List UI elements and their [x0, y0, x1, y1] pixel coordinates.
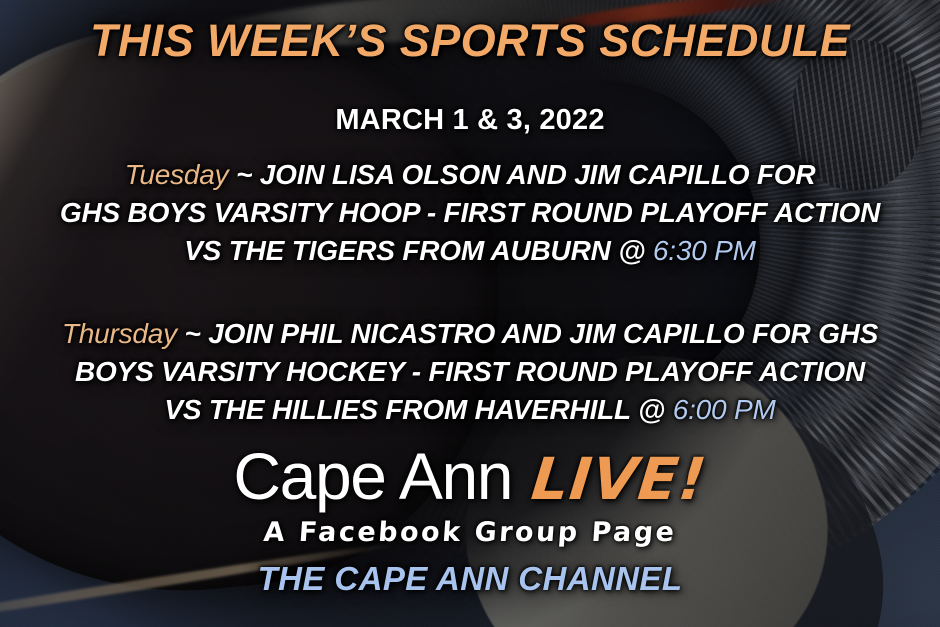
schedule-entry-thursday-line-1: Thursday ~ JOIN PHIL NICASTRO AND JIM CA…	[0, 315, 940, 353]
schedule-entry-thursday-line-1-text: JOIN PHIL NICASTRO AND JIM CAPILLO FOR G…	[208, 318, 878, 349]
schedule-entry-tuesday-line-2: GHS BOYS VARSITY HOOP - FIRST ROUND PLAY…	[0, 194, 940, 232]
schedule-entry-thursday-line-3: VS THE HILLIES FROM HAVERHILL @ 6:00 PM	[0, 391, 940, 429]
schedule-separator: ~	[177, 318, 208, 349]
brand-channel-name: THE CAPE ANN CHANNEL	[0, 562, 940, 595]
schedule-entry-tuesday-line-1: Tuesday ~ JOIN LISA OLSON AND JIM CAPILL…	[0, 156, 940, 194]
date-subtitle: MARCH 1 & 3, 2022	[0, 106, 940, 135]
schedule-entry-thursday-line-3-text: VS THE HILLIES FROM HAVERHILL @	[164, 394, 672, 425]
schedule-entry-tuesday-line-3-text: VS THE TIGERS FROM AUBURN @	[184, 235, 653, 266]
schedule-separator: ~	[228, 159, 259, 190]
content-overlay: THIS WEEK’S SPORTS SCHEDULE MARCH 1 & 3,…	[0, 0, 940, 627]
brand-tagline: A Facebook Group Page	[0, 519, 940, 546]
schedule-entry-thursday: Thursday ~ JOIN PHIL NICASTRO AND JIM CA…	[0, 315, 940, 429]
schedule-entry-tuesday: Tuesday ~ JOIN LISA OLSON AND JIM CAPILL…	[0, 156, 940, 270]
brand-wordmark-row: Cape Ann LIVE!	[0, 443, 940, 517]
sports-schedule-graphic: THIS WEEK’S SPORTS SCHEDULE MARCH 1 & 3,…	[0, 0, 940, 627]
schedule-entry-tuesday-line-3: VS THE TIGERS FROM AUBURN @ 6:30 PM	[0, 232, 940, 270]
schedule-day-label-thursday: Thursday	[62, 318, 177, 349]
page-title: THIS WEEK’S SPORTS SCHEDULE	[0, 18, 940, 63]
brand-name-primary: Cape Ann	[233, 443, 512, 509]
schedule-time-tuesday: 6:30 PM	[653, 235, 756, 266]
brand-name-accent: LIVE!	[529, 450, 710, 508]
schedule-day-label-tuesday: Tuesday	[125, 159, 229, 190]
brand-logo-lockup: Cape Ann LIVE! A Facebook Group Page THE…	[0, 443, 940, 595]
schedule-entry-thursday-line-2: BOYS VARSITY HOCKEY - FIRST ROUND PLAYOF…	[0, 353, 940, 391]
schedule-time-thursday: 6:00 PM	[673, 394, 776, 425]
schedule-entry-tuesday-line-1-text: JOIN LISA OLSON AND JIM CAPILLO FOR	[260, 159, 816, 190]
